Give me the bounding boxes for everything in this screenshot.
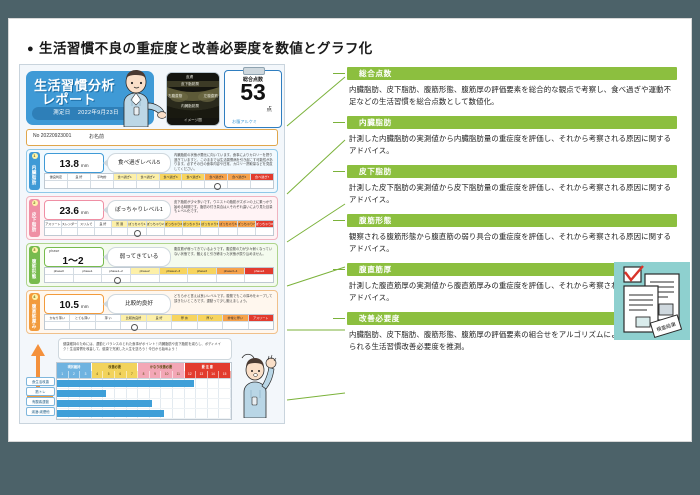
scale-cell-slot [45,228,61,237]
scale-cell-label: スリムで [78,221,94,228]
page-title-text: 生活習慣不良の重症度と改善必要度を数値とグラフ化 [39,41,373,56]
scale-cell: ぽっちゃり8 [256,221,273,235]
scale-cell-slot [219,228,236,237]
metric-index-badge: 3 [32,247,38,253]
report-title-line2: レポート [42,89,96,108]
scale-cell: 食べ過ぎ6 [228,174,251,188]
scale-cell-label: phase3 [188,268,216,275]
scale-marker-icon [131,324,138,331]
scale-cell: ぽっちゃり4 [183,221,201,235]
scale-cell: スリムで [78,221,95,235]
ultrasound-image: 皮膚 皮下脂肪層 右腹直筋 左腹直筋 内臓脂肪層 イメージ図 [166,72,220,126]
panel-body: 観察される腹筋形態から腹直筋の弱り具合の重症度を評価し、それから考察される原因に… [347,227,677,254]
scale-marker-icon [134,230,141,237]
scale-cell-slot [245,275,273,284]
panel-title: 総合点数 [347,67,677,80]
panel-body: 計測した内臓脂肪の実測値から内臓脂肪量の重症度を評価し、それから考察される原因に… [347,129,677,156]
echo-label-diagram: イメージ図 [184,118,202,123]
metric-row: 2皮下脂肪23.6mmぽっちゃりレベル1皮下脂肪が少々多いです。ウエストの脂肪が… [26,196,278,240]
report-header: 生活習慣分析 レポート 測定日 2022年9月23日 [24,69,280,127]
metric-comment: 食べ過ぎレベル5 [107,153,171,173]
chart-tick: 7 [127,371,139,378]
scale-marker-icon [214,183,221,190]
scale-cell-label: ぽっちゃり1 [128,221,145,228]
scale-cell: 食べ過ぎ4 [182,174,205,188]
scale-cell-label: 厚 い [198,315,222,322]
scale-cell-slot [45,322,69,331]
scale-cell: ぽっちゃり2 [147,221,165,235]
scale-cell-slot [198,322,222,331]
patient-id-number: No 20220923001 [33,133,71,139]
scale-cell-label: 厚 め [172,315,196,322]
chart-band: かなり改善必要 [138,363,184,371]
scale-cell-label: 比較的良好 [121,315,145,322]
scale-cell: 食べ過ぎ1 [114,174,137,188]
metric-index-badge: 1 [32,153,38,159]
scale-cell-label: ぽっちゃり2 [147,221,164,228]
scale-cell-slot [256,228,273,237]
scale-cell-slot [95,228,111,237]
scale-cell: phase3 [188,268,217,282]
metric-tab-3: 4腹直筋厚み [29,293,40,331]
scale-cell: phase3~4 [217,268,246,282]
echo-label-right-rectus: 右腹直筋 [168,94,182,99]
scale-cell: phase0 [45,268,74,282]
scale-cell-slot [114,181,136,190]
cheering-person-illustration [232,350,278,418]
patient-name-label: お名前 [89,133,104,140]
scale-cell: 平均的 [91,174,114,188]
scale-cell-slot [91,181,113,190]
panel-leader-line [333,171,345,172]
scale-cell-label: ぽっちゃり4 [183,221,200,228]
scale-cell-label: 食べ過ぎ5 [205,174,227,181]
scale-cell: phase2 [131,268,160,282]
metric-tab-label: 内臓脂肪 [32,165,37,185]
scale-cell: 普 通 [112,221,129,235]
scale-cell-slot [62,228,78,237]
scale-cell-slot [182,181,204,190]
scale-cell-slot [102,275,130,284]
brand-logo: お腹アルケミ [232,119,257,125]
description-panel: 皮下脂肪計測した皮下脂肪の実測値から皮下脂肪量の重症度を評価し、それから考察され… [347,165,677,205]
scale-cell: 非常に厚い [223,315,248,329]
improvement-section: 改善必要度 健康維持のためには、運動とバランスのとれた食事がポイント！内臓脂肪や… [26,338,278,420]
scale-cell: 良 好 [147,315,172,329]
scale-cell-label: 非常に厚い [223,315,247,322]
scale-cell-slot [68,181,90,190]
scale-cell-label: スレンダー [62,221,78,228]
metric-value: 13.8 [59,159,78,170]
scale-cell-slot [96,322,120,331]
scale-cell-label: 普 通 [112,221,128,228]
scale-cell: phase1~2 [102,268,131,282]
scale-cell-label: 優良判定 [45,174,67,181]
scale-cell-label: 食べ過ぎ3 [160,174,182,181]
scale-cell-label: 良 好 [147,315,171,322]
metric-scale: 優良判定良 好平均的食べ過ぎ1食べ過ぎ2食べ過ぎ3食べ過ぎ4食べ過ぎ5食べ過ぎ6… [44,173,274,189]
scale-cell-slot [45,181,67,190]
chart-category-label: 有酸素運動 [26,397,55,406]
panel-leader-line [333,318,345,319]
metric-index-badge: 4 [32,294,38,300]
echo-label-skin: 皮膚 [186,75,193,80]
scale-cell-slot [205,181,227,190]
metric-value-box: 10.5mm [44,294,104,314]
scale-cell-label: phase1~2 [102,268,130,275]
panel-title: 腹筋形態 [347,214,677,227]
nurse-illustration [110,69,166,127]
scale-cell-label: 食べ過ぎ6 [228,174,250,181]
scale-cell-slot [121,322,145,331]
scale-cell-slot [131,275,159,284]
metric-unit: mm [81,304,89,309]
metric-tab-2: 3腹筋形態 [29,246,40,284]
scale-cell-slot [249,322,273,331]
scale-cell-label: phase2~3 [160,268,188,275]
chart-tick: 15 [219,371,231,378]
scale-cell-label: phase0 [45,268,73,275]
scale-cell: 良 好 [95,221,112,235]
chart-tick: 2 [69,371,81,378]
metric-value-prefix: phase [49,249,59,254]
scale-cell: ぽっちゃり7 [238,221,256,235]
metric-row-list: 1内臓脂肪13.8mm食べ過ぎレベル5内臓脂肪の状態が悪化に向いています。食事に… [24,149,280,334]
scale-cell-slot [160,275,188,284]
metric-value-box: phase1〜2 [44,247,104,267]
metric-scale: phase0phase1phase1~2phase2phase2~3phase3… [44,267,274,283]
chart-band-header: 現状維持改善必要かなり改善必要要 注 意 [57,363,231,371]
metric-scale: アスリートスレンダースリムで良 好普 通ぽっちゃり1ぽっちゃり2ぽっちゃり3ぽっ… [44,220,274,236]
scale-cell-label: phase3~4 [217,268,245,275]
chart-bar [57,380,194,387]
documents-icon: 検査結果 [614,262,690,340]
scale-cell-label: 食べ過ぎ2 [137,174,159,181]
scale-cell-label: アスリート [45,221,61,228]
chart-band: 改善必要 [92,363,138,371]
chart-category-label: 減酒・減煙他 [26,407,55,416]
scale-cell: とても薄い [70,315,95,329]
scale-cell: 厚 い [198,315,223,329]
scale-cell: 食べ過ぎ3 [160,174,183,188]
metric-comment: 比較的良好 [107,294,171,314]
chart-category-label: 食生活改善 [26,377,55,386]
scale-cell: 薄 い [96,315,121,329]
metric-index-badge: 2 [32,200,38,206]
metric-value: 1〜2 [62,256,83,267]
metric-tab-label: 皮下脂肪 [32,212,37,232]
chart-tick: 5 [103,371,115,378]
scale-cell-slot [183,228,200,237]
metric-tab-1: 2皮下脂肪 [29,199,40,237]
metric-tab-0: 1内臓脂肪 [29,152,40,190]
chart-tick: 10 [161,371,173,378]
description-panel: 腹筋形態観察される腹筋形態から腹直筋の弱り具合の重症度を評価し、それから考察され… [347,214,677,254]
scale-cell-slot [165,228,182,237]
scale-cell: 優良判定 [45,174,68,188]
metric-description: 皮下脂肪が少々多いです。ウエストの脂肪がズボンの上に乗っかり始める時期です。脂肪… [174,200,274,214]
chart-bar [57,410,164,417]
metric-unit: mm [81,163,89,168]
chart-band: 現状維持 [57,363,92,371]
scale-cell-label: 良 好 [68,174,90,181]
description-panel: 内臓脂肪計測した内臓脂肪の実測値から内臓脂肪量の重症度を評価し、それから考察され… [347,116,677,156]
scale-cell-slot [112,228,128,237]
scale-cell: アスリート [45,221,62,235]
chart-tick: 4 [92,371,104,378]
scale-cell-label: ぽっちゃり3 [165,221,182,228]
scale-cell-label: 食べ過ぎ7 [251,174,273,181]
scale-cell: ぽっちゃり3 [165,221,183,235]
scale-cell-slot [188,275,216,284]
scale-cell-slot [172,322,196,331]
scale-cell-slot [147,228,164,237]
chart-bar [57,400,152,407]
panel-title: 内臓脂肪 [347,116,677,129]
scale-cell: 食べ過ぎ2 [137,174,160,188]
scale-cell: ぽっちゃり6 [219,221,237,235]
chart-bar-row [57,399,231,409]
chart-category-labels: 食生活改善筋トレ有酸素運動減酒・減煙他 [26,377,55,417]
metric-row: 4腹直筋厚み10.5mm比較的良好どちらかと言えば良いレベルです。腹筋でもこの厚… [26,290,278,334]
connector-lines [285,64,349,424]
chart-bar [57,390,106,397]
scale-cell-slot [251,181,273,190]
panel-body: 内臓脂肪、皮下脂肪、腹筋形態、腹筋厚の評価要素を総合的な観点で考察し、食べ過ぎや… [347,80,677,107]
scale-cell: 食べ過ぎ5 [205,174,228,188]
scale-cell-label: ぽっちゃり8 [256,221,273,228]
scale-cell-label: phase1 [74,268,102,275]
chart-tick: 8 [138,371,150,378]
scale-cell: 良 好 [68,174,91,188]
metric-value-box: 23.6mm [44,200,104,220]
scale-cell-slot [74,275,102,284]
metric-value-box: 13.8mm [44,153,104,173]
chart-tick-row: 123456789101112131415 [57,371,231,379]
scale-cell-label: ぽっちゃり5 [201,221,218,228]
scale-cell-slot [217,275,245,284]
scale-cell-label: ぽっちゃり7 [238,221,255,228]
chart-bar-row [57,389,231,399]
chart-bar-row [57,379,231,389]
scale-cell-label: 薄 い [96,315,120,322]
chart-tick: 9 [150,371,162,378]
metric-comment: ぽっちゃりレベル1 [107,200,171,220]
metric-value: 10.5 [59,300,78,311]
scale-cell: かなり薄い [45,315,70,329]
scale-cell-slot [78,228,94,237]
scale-cell-label: phase2 [131,268,159,275]
scale-cell-slot [201,228,218,237]
metric-description: 腹直筋が弱ってきているようです。腹直筋の力が少々弱くなっていない状態です。鍛える… [174,247,274,256]
chart-tick: 1 [57,371,69,378]
clipboard-clip-icon [243,67,265,75]
panel-body: 計測した皮下脂肪の実測値から皮下脂肪量の重症度を評価し、それから考察される原因に… [347,178,677,205]
echo-label-left-rectus: 左腹直筋 [204,94,218,99]
chart-bar-row [57,409,231,419]
metric-unit: mm [81,210,89,215]
scale-cell: ぽっちゃり1 [128,221,146,235]
scale-cell: アスリート [249,315,273,329]
metric-value: 23.6 [59,206,78,217]
date-label: 測定日 [53,110,70,116]
panel-leader-line [333,269,345,270]
scale-cell: 食べ過ぎ7 [251,174,273,188]
bullet-icon: ● [27,43,34,55]
scale-cell-slot [228,181,250,190]
scale-cell-label: 食べ過ぎ1 [114,174,136,181]
metric-tab-label: 腹直筋厚み [32,304,37,329]
chart-tick: 13 [196,371,208,378]
chart-tick: 3 [80,371,92,378]
report-card: 生活習慣分析 レポート 測定日 2022年9月23日 [19,64,285,424]
metric-description: 内臓脂肪の状態が悪化に向いています。食事によりカロリーを摂り過ぎていますと、この… [174,153,274,171]
panel-leader-line [333,122,345,123]
score-value: 53 [225,81,281,104]
metric-row: 1内臓脂肪13.8mm食べ過ぎレベル5内臓脂肪の状態が悪化に向いています。食事に… [26,149,278,193]
chart-tick: 12 [185,371,197,378]
scale-cell-label: かなり薄い [45,315,69,322]
scale-cell-label: ぽっちゃり6 [219,221,236,228]
scale-cell: phase4 [245,268,273,282]
scale-marker-icon [114,277,121,284]
scale-cell-slot [160,181,182,190]
panel-leader-line [333,73,345,74]
metric-row: 3腹筋形態phase1〜2弱ってきている腹直筋が弱ってきているようです。腹直筋の… [26,243,278,287]
scale-cell: スレンダー [62,221,79,235]
scale-cell-label: 平均的 [91,174,113,181]
slide-canvas: ●生活習慣不良の重症度と改善必要度を数値とグラフ化 生活習慣分析 レポート 測定… [8,18,692,442]
description-panel: 総合点数内臓脂肪、皮下脂肪、腹筋形態、腹筋厚の評価要素を総合的な観点で考察し、食… [347,67,677,107]
scale-cell-label: 良 好 [95,221,111,228]
patient-id-bar: No 20220923001 お名前 [26,129,278,146]
scale-cell-slot [223,322,247,331]
scale-cell: 比較的良好 [121,315,146,329]
score-clipboard: 総合点数 53 点 お腹アルケミ [224,70,282,128]
metric-description: どちらかと言えば良いレベルです。腹筋でもこの厚みをキープして頂きたいところです。… [174,294,274,303]
page-title: ●生活習慣不良の重症度と改善必要度を数値とグラフ化 [27,37,373,57]
chart-tick: 6 [115,371,127,378]
scale-cell-slot [128,228,145,237]
scale-cell-slot [70,322,94,331]
scale-cell-label: とても薄い [70,315,94,322]
chart-band: 要 注 意 [185,363,231,371]
metric-tab-label: 腹筋形態 [32,259,37,279]
scale-cell: phase2~3 [160,268,189,282]
chart-tick: 11 [173,371,185,378]
scale-cell-slot [238,228,255,237]
scale-cell-label: アスリート [249,315,273,322]
scale-cell-label: 食べ過ぎ4 [182,174,204,181]
scale-cell-slot [147,322,171,331]
scale-cell: phase1 [74,268,103,282]
improvement-advice: 健康維持のためには、運動とバランスのとれた食事がポイント！内臓脂肪や皮下脂肪を減… [58,338,232,360]
chart-tick: 14 [208,371,220,378]
echo-label-subcutaneous: 皮下脂肪層 [181,82,199,87]
panel-title: 皮下脂肪 [347,165,677,178]
metric-comment: 弱ってきている [107,247,171,267]
scale-cell: 厚 め [172,315,197,329]
metric-scale: かなり薄いとても薄い薄 い比較的良好良 好厚 め厚 い非常に厚いアスリート [44,314,274,330]
chart-category-label: 筋トレ [26,387,55,396]
scale-cell-label: phase4 [245,268,273,275]
chart-plot-area [57,379,231,419]
scale-cell-slot [137,181,159,190]
panel-leader-line [333,220,345,221]
echo-label-visceral: 内臓脂肪層 [181,104,199,109]
scale-cell: ぽっちゃり5 [201,221,219,235]
improvement-bar-chart: 現状維持改善必要かなり改善必要要 注 意 1234567891011121314… [56,362,232,420]
scale-cell-slot [45,275,73,284]
score-unit: 点 [266,105,272,113]
